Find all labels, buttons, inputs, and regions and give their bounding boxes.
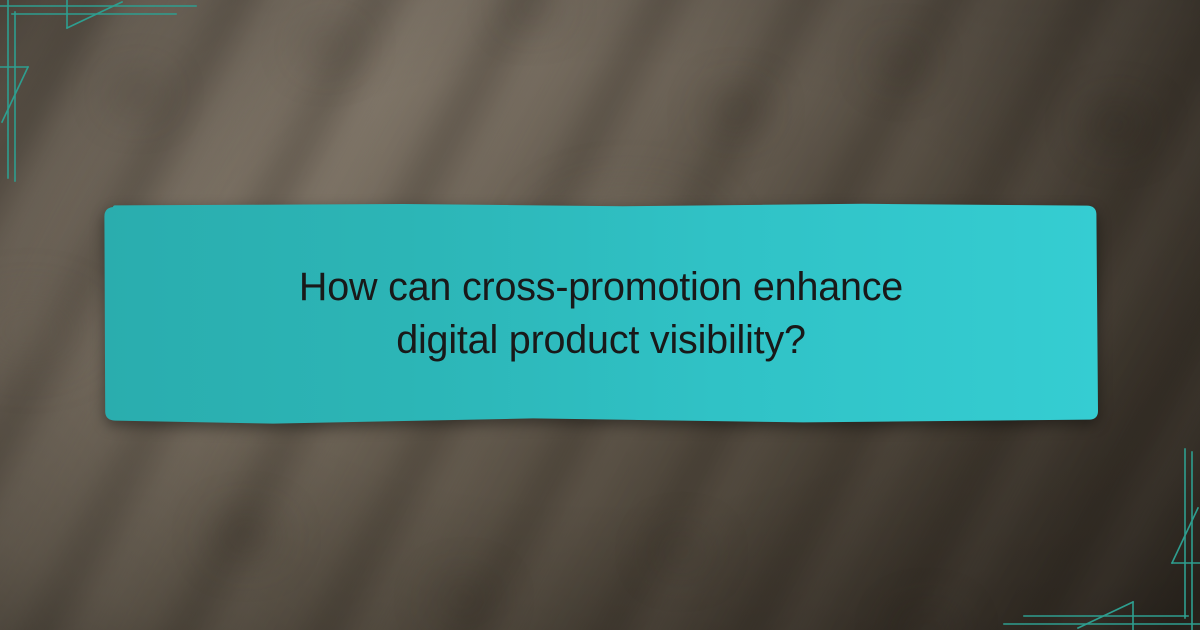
- corner-decoration-bottom-right: [990, 440, 1200, 630]
- headline-banner: How can cross-promotion enhance digital …: [103, 203, 1099, 425]
- screenshot-canvas: How can cross-promotion enhance digital …: [0, 0, 1200, 630]
- corner-decoration-top-left: [0, 0, 210, 190]
- headline-text-block: How can cross-promotion enhance digital …: [103, 203, 1099, 425]
- headline-line-2: digital product visibility?: [396, 314, 806, 367]
- headline-line-1: How can cross-promotion enhance: [299, 261, 903, 314]
